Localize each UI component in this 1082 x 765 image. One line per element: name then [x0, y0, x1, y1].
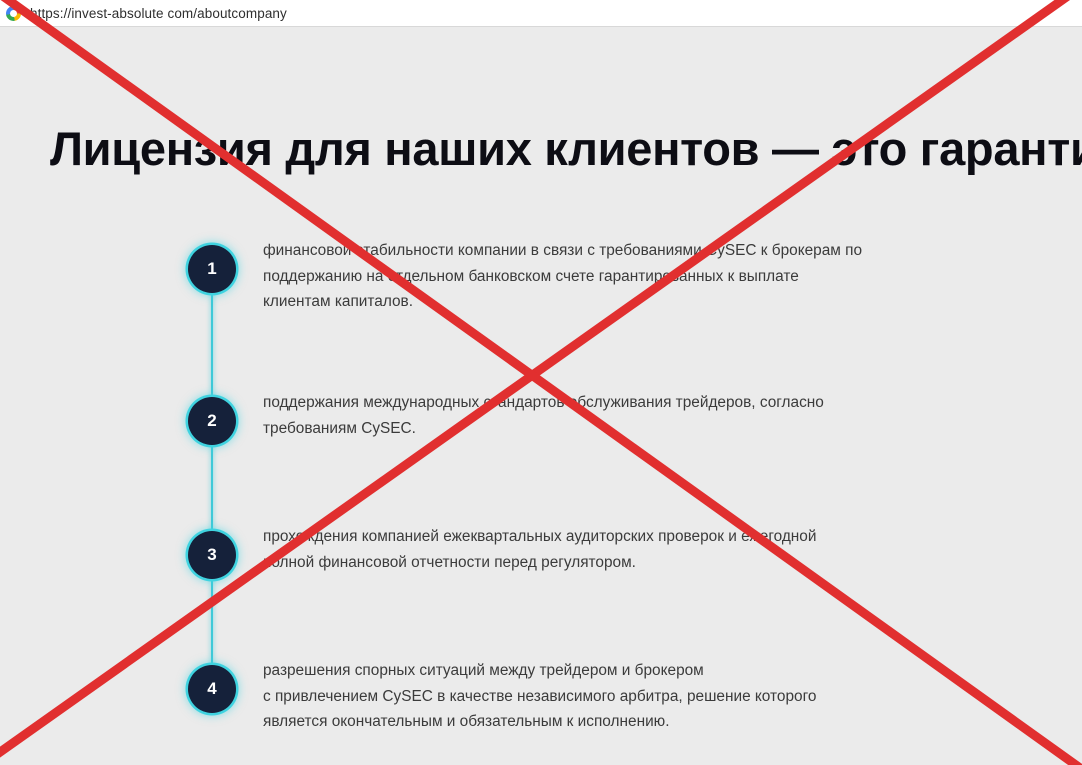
- timeline-text-3: прохождения компанией ежеквартальных ауд…: [263, 524, 953, 575]
- timeline-text-line: клиентам капиталов.: [263, 289, 953, 315]
- timeline-badge-2: 2: [188, 397, 236, 445]
- timeline-text-line: финансовой стабильности компании в связи…: [263, 238, 953, 264]
- timeline-text-line: полной финансовой отчетности перед регул…: [263, 550, 953, 576]
- timeline-text-2: поддержания международных стандартов обс…: [263, 390, 953, 441]
- timeline-text-line: является окончательным и обязательным к …: [263, 709, 953, 735]
- timeline-text-line: требованиям CySEC.: [263, 416, 953, 442]
- url-text[interactable]: https://invest-absolute com/aboutcompany: [30, 6, 287, 21]
- page-title: Лицензия для наших клиентов — это гарант…: [50, 121, 1082, 177]
- timeline-badge-1: 1: [188, 245, 236, 293]
- screenshot-root: https://invest-absolute com/aboutcompany…: [0, 0, 1082, 765]
- web-page: Лицензия для наших клиентов — это гарант…: [0, 28, 1082, 765]
- chrome-favicon-icon: [6, 6, 21, 21]
- timeline-text-line: поддержанию на отдельном банковском счет…: [263, 264, 953, 290]
- timeline-text-4: разрешения спорных ситуаций между трейде…: [263, 658, 953, 735]
- timeline-text-line: прохождения компанией ежеквартальных ауд…: [263, 524, 953, 550]
- timeline-badge-3: 3: [188, 531, 236, 579]
- timeline-text-1: финансовой стабильности компании в связи…: [263, 238, 953, 315]
- timeline-text-line: с привлечением CySEC в качестве независи…: [263, 684, 953, 710]
- browser-url-bar[interactable]: https://invest-absolute com/aboutcompany: [0, 0, 1082, 27]
- timeline-text-line: разрешения спорных ситуаций между трейде…: [263, 658, 953, 684]
- timeline-connector-line: [211, 289, 213, 397]
- timeline-text-line: поддержания международных стандартов обс…: [263, 390, 953, 416]
- timeline-badge-4: 4: [188, 665, 236, 713]
